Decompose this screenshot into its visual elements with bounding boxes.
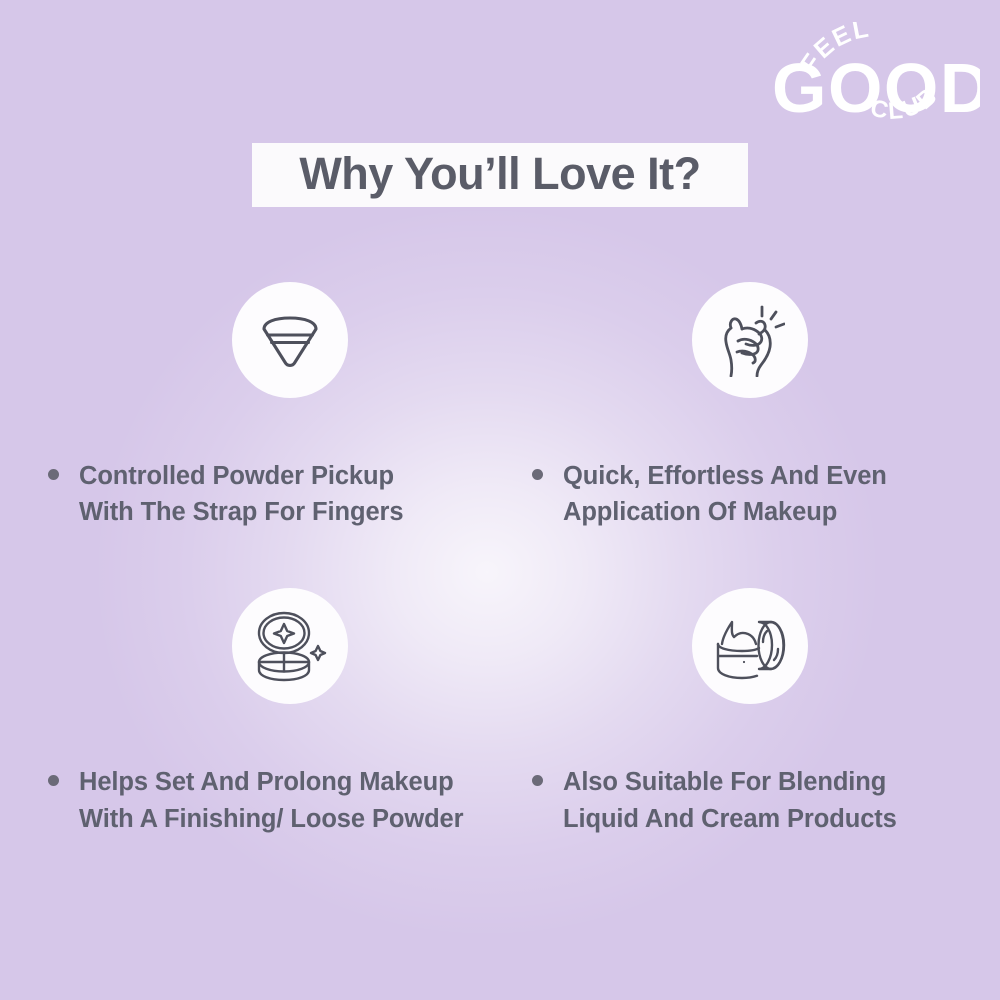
feature-item-quick-application: Quick, Effortless And Even Application O…: [500, 282, 1000, 530]
brand-logo: FEEL GOOD CLUB: [770, 22, 980, 137]
feature-label: Controlled Powder Pickup With The Strap …: [79, 458, 403, 530]
bullet-dot: [532, 469, 543, 480]
page-title: Why You’ll Love It?: [299, 151, 700, 199]
icon-badge: [232, 282, 348, 398]
feature-label-line1: Helps Set And Prolong Makeup: [79, 768, 454, 796]
feature-item-set-makeup: Helps Set And Prolong Makeup With A Fini…: [0, 588, 500, 836]
bullet-dot: [48, 775, 59, 786]
feature-label: Helps Set And Prolong Makeup With A Fini…: [79, 764, 463, 836]
icon-badge: [232, 588, 348, 704]
bullet-dot: [532, 775, 543, 786]
icon-badge: [692, 282, 808, 398]
feature-text: Controlled Powder Pickup With The Strap …: [0, 458, 500, 530]
feature-label: Quick, Effortless And Even Application O…: [563, 458, 887, 530]
feature-label-line1: Controlled Powder Pickup: [79, 462, 394, 490]
bullet-dot: [48, 469, 59, 480]
feature-text: Quick, Effortless And Even Application O…: [500, 458, 1000, 530]
feature-row: Helps Set And Prolong Makeup With A Fini…: [0, 588, 1000, 836]
compact-powder-icon: [252, 610, 328, 682]
feature-text: Helps Set And Prolong Makeup With A Fini…: [0, 764, 500, 836]
feature-label-line2: Application Of Makeup: [563, 498, 837, 526]
feature-item-blending: Also Suitable For Blending Liquid And Cr…: [500, 588, 1000, 836]
snapping-fingers-icon: [715, 303, 785, 377]
feature-text: Also Suitable For Blending Liquid And Cr…: [500, 764, 1000, 836]
feature-label-line2: With The Strap For Fingers: [79, 498, 403, 526]
page-title-banner: Why You’ll Love It?: [252, 143, 748, 207]
feature-item-powder-pickup: Controlled Powder Pickup With The Strap …: [0, 282, 500, 530]
feature-label-line1: Quick, Effortless And Even: [563, 462, 887, 490]
icon-badge: [692, 588, 808, 704]
powder-puff-icon: [253, 303, 327, 377]
promo-graphic: FEEL GOOD CLUB Why You’ll Love It?: [0, 0, 1000, 1000]
feature-row: Controlled Powder Pickup With The Strap …: [0, 282, 1000, 530]
feature-label-line2: Liquid And Cream Products: [563, 805, 897, 833]
feature-label-line2: With A Finishing/ Loose Powder: [79, 805, 463, 833]
feature-label-line1: Also Suitable For Blending: [563, 768, 886, 796]
cream-jar-icon: [710, 612, 790, 680]
feature-grid: Controlled Powder Pickup With The Strap …: [0, 282, 1000, 837]
feature-label: Also Suitable For Blending Liquid And Cr…: [563, 764, 897, 836]
